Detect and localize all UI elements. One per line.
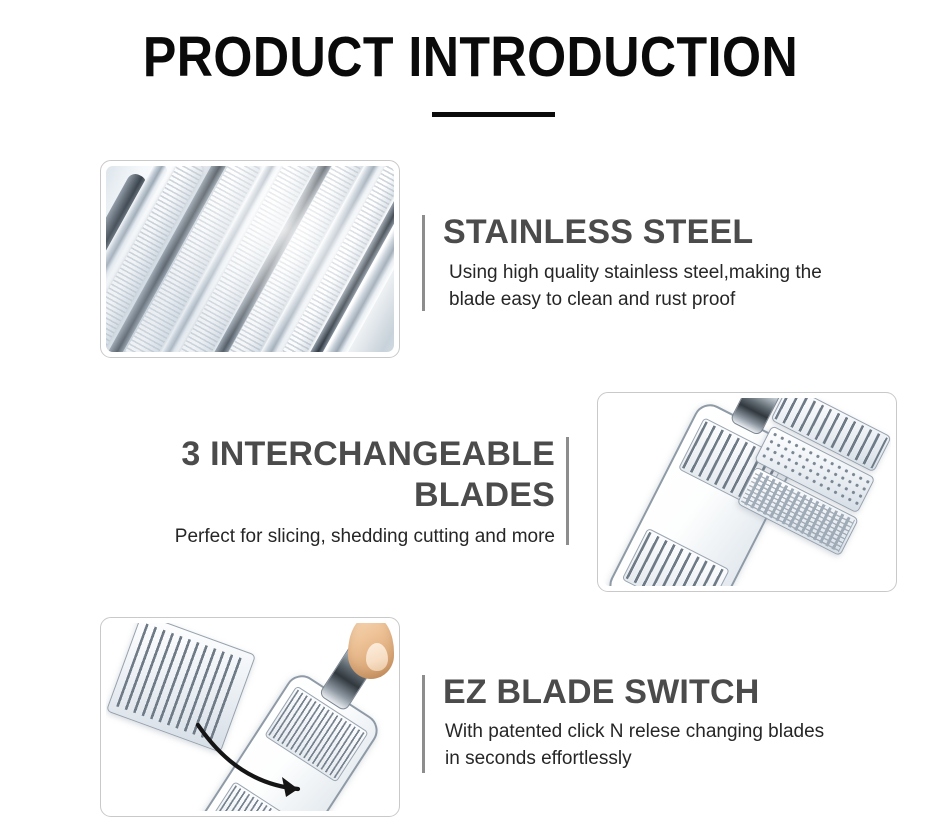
feature-text-interchangeable-blades: 3 INTERCHANGEABLE BLADES Perfect for sli…: [165, 434, 555, 550]
feature-heading: 3 INTERCHANGEABLE BLADES: [165, 434, 555, 516]
photo-scene: [603, 398, 891, 586]
feature-image-stainless-steel: [100, 160, 400, 358]
feature-heading-line: BLADES: [414, 476, 555, 514]
feature-heading: STAINLESS STEEL: [443, 212, 843, 253]
feature-heading-line: 3 INTERCHANGEABLE: [181, 435, 555, 473]
blade-swap-arrow-icon: [194, 719, 326, 805]
photo-macro-blades: [106, 166, 394, 352]
hand-group: [344, 623, 394, 689]
feature-body-line: Using high quality stainless steel,makin…: [449, 262, 822, 283]
accent-divider-bar: [566, 437, 569, 545]
feature-image-interchangeable-blades: [597, 392, 897, 592]
accent-divider-bar: [422, 675, 425, 773]
photo-slicer-and-blades: [603, 398, 891, 586]
feature-heading: EZ BLADE SWITCH: [443, 672, 843, 713]
feature-body: With patented click N relese changing bl…: [443, 718, 843, 772]
feature-text-ez-blade-switch: EZ BLADE SWITCH With patented click N re…: [443, 672, 843, 772]
thumbnail: [366, 643, 388, 671]
accent-divider-bar: [422, 215, 425, 311]
slicer-handle-grip: [165, 810, 210, 811]
feature-image-ez-blade-switch: [100, 617, 400, 817]
feature-body-line: blade easy to clean and rust proof: [449, 289, 735, 310]
title-underline-rule: [432, 112, 555, 117]
feature-body-line: With patented click N relese changing bl…: [445, 721, 824, 742]
feature-body: Using high quality stainless steel,makin…: [443, 259, 843, 313]
page-title: PRODUCT INTRODUCTION: [56, 26, 884, 88]
photo-scene: [106, 623, 394, 811]
macro-highlight-haze: [106, 166, 394, 352]
feature-body-line: in seconds effortlessly: [445, 748, 632, 769]
feature-body-line: Perfect for slicing, shedding cutting an…: [175, 526, 555, 547]
feature-text-stainless-steel: STAINLESS STEEL Using high quality stain…: [443, 212, 843, 313]
feature-body: Perfect for slicing, shedding cutting an…: [165, 523, 555, 550]
photo-blade-swap: [106, 623, 394, 811]
